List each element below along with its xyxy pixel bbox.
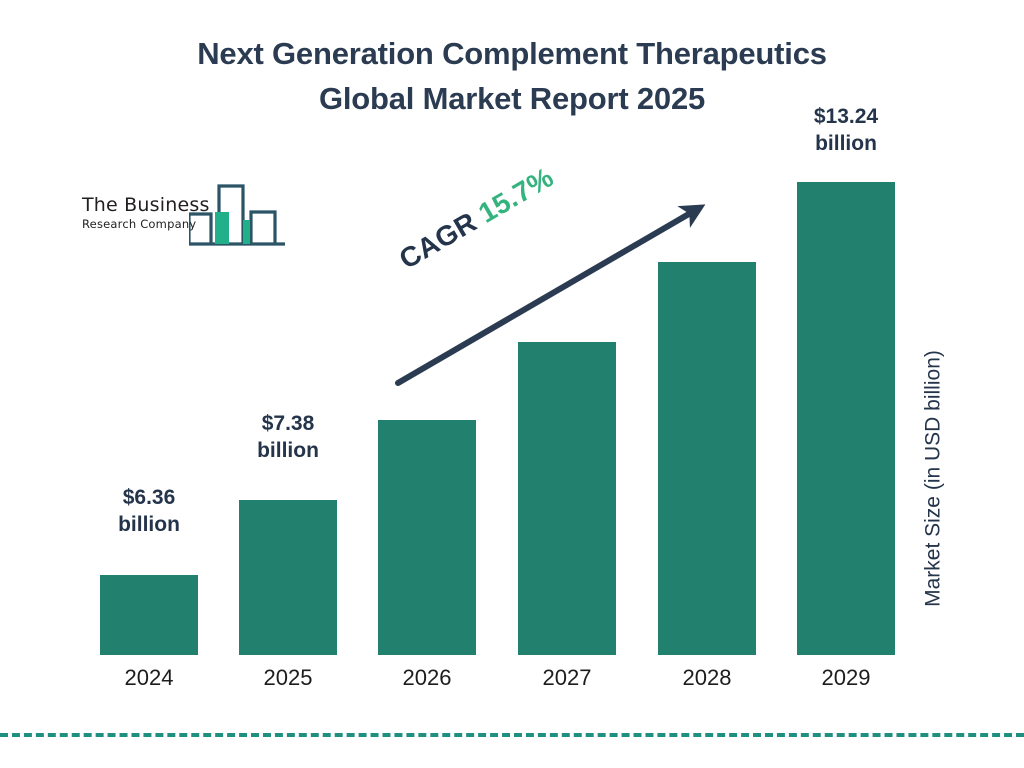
footer-dashed-divider [0, 733, 1024, 737]
bar-chart: $6.36 billion $7.38 billion $13.24 billi… [0, 0, 1024, 768]
growth-arrow-icon [0, 0, 1024, 768]
y-axis-title-holder: Market Size (in USD billion) [905, 300, 961, 670]
y-axis-title: Market Size (in USD billion) [923, 299, 944, 659]
